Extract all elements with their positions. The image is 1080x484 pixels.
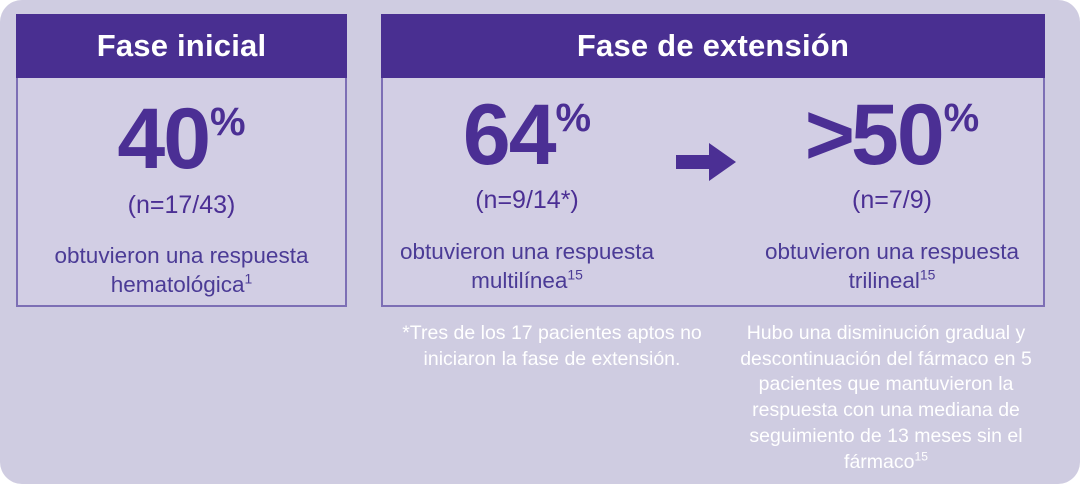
stat-figure-hematologic: 40%	[117, 98, 245, 181]
stat-figure-multiline: 64%	[463, 94, 591, 177]
footnote-taper-marker: 15	[915, 449, 928, 463]
stat-value-multiline: 64	[463, 94, 555, 177]
stat-description-multiline: obtuvieron una respuesta multilínea15	[384, 238, 670, 296]
stat-percent-multiline: %	[556, 98, 592, 138]
stat-percent-hematologic: %	[210, 102, 246, 142]
stat-n-trilineal: (n=7/9)	[852, 187, 932, 215]
stat-description-text-hematologic: obtuvieron una respuesta hematológica	[55, 243, 309, 297]
stat-figure-trilineal: >50%	[805, 94, 979, 177]
stat-footnote-marker-multiline: 15	[567, 266, 583, 282]
stat-block-hematologic: 40% (n=17/43) obtuvieron una respuesta h…	[18, 84, 345, 300]
footnote-taper-text: Hubo una disminución gradual y descontin…	[740, 322, 1032, 473]
stat-n-multiline: (n=9/14*)	[475, 187, 579, 215]
stat-description-trilineal: obtuvieron una respuesta trilineal15	[742, 238, 1042, 296]
panel-body-fase-extension: 64% (n=9/14*) obtuvieron una respuesta m…	[381, 78, 1045, 307]
stat-percent-trilineal: %	[944, 98, 980, 138]
footnote-asterisk: *Tres de los 17 pacientes aptos no inici…	[392, 321, 712, 372]
stat-footnote-marker-trilineal: 15	[920, 266, 936, 282]
stat-block-multiline: 64% (n=9/14*) obtuvieron una respuesta m…	[384, 78, 670, 296]
infographic-root: Fase inicial 40% (n=17/43) obtuvieron un…	[0, 0, 1080, 484]
panel-body-fase-inicial: 40% (n=17/43) obtuvieron una respuesta h…	[16, 78, 347, 307]
panel-fase-extension: Fase de extensión 64% (n=9/14*) obtuvier…	[381, 14, 1045, 307]
arrow-right-icon	[676, 140, 736, 184]
panel-title-fase-inicial: Fase inicial	[97, 28, 267, 64]
stat-description-text-trilineal: obtuvieron una respuesta trilineal	[765, 239, 1019, 293]
panel-header-fase-inicial: Fase inicial	[16, 14, 347, 78]
panel-title-fase-extension: Fase de extensión	[577, 28, 849, 64]
connector-arrow-wrap	[670, 78, 742, 184]
panel-header-fase-extension: Fase de extensión	[381, 14, 1045, 78]
footnote-taper: Hubo una disminución gradual y descontin…	[716, 321, 1056, 475]
footnote-asterisk-text: *Tres de los 17 pacientes aptos no inici…	[402, 322, 702, 370]
stat-block-trilineal: >50% (n=7/9) obtuvieron una respuesta tr…	[742, 78, 1042, 296]
stat-prefix-trilineal: >	[805, 94, 851, 177]
panel-fase-inicial: Fase inicial 40% (n=17/43) obtuvieron un…	[16, 14, 347, 307]
stat-footnote-marker-hematologic: 1	[245, 270, 253, 286]
stat-n-hematologic: (n=17/43)	[128, 192, 236, 220]
stat-description-hematologic: obtuvieron una respuesta hematológica1	[18, 242, 345, 300]
stat-description-text-multiline: obtuvieron una respuesta multilínea	[400, 239, 654, 293]
stat-value-trilineal: 50	[851, 94, 943, 177]
stat-value-hematologic: 40	[117, 98, 209, 181]
